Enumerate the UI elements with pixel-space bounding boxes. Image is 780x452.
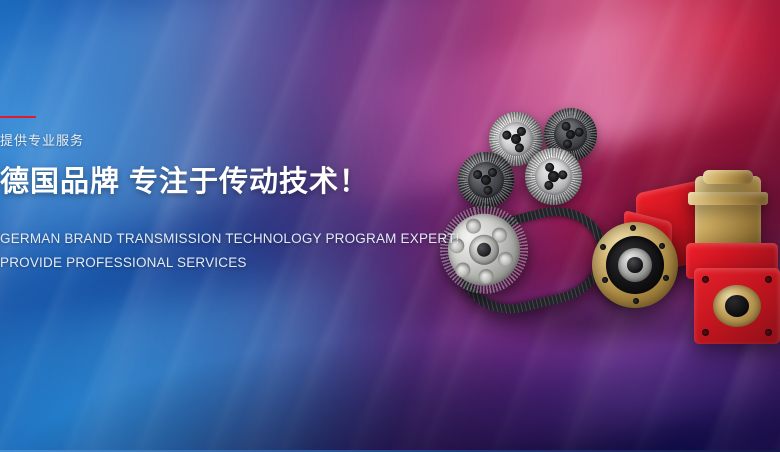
pulley-bore <box>510 133 522 145</box>
timing-pulley-silver-top <box>482 105 550 173</box>
hero-banner: 提供专业服务 德国品牌 专注于传动技术！ GERMAN BRAND TRANSM… <box>0 0 780 452</box>
gearbox-rear-housing <box>636 178 708 275</box>
pulley-bolt <box>574 127 585 138</box>
hero-headline: 德国品牌 专注于传动技术！ <box>0 167 400 199</box>
pulley-bore <box>480 174 491 185</box>
gearbox-front-face-bolt <box>765 329 772 336</box>
gearbox-rear-neck <box>624 210 672 288</box>
pulley-bore <box>565 129 576 140</box>
gearbox-motor-adaptor-barrel <box>695 176 761 252</box>
pulley-rim <box>482 105 550 173</box>
pulley-disc <box>539 103 602 166</box>
large-pulley-lightening-hole <box>454 261 472 279</box>
large-pulley-lightening-hole <box>496 250 514 268</box>
large-pulley-lightening-hole <box>490 226 508 244</box>
gearbox-front-face-bolt <box>765 276 772 283</box>
pulley-disc <box>454 148 517 211</box>
gearbox-rear-flange-bolt <box>630 225 636 231</box>
timing-pulley-silver-right <box>516 139 590 213</box>
pulley-rim <box>454 148 517 211</box>
large-pulley-teeth <box>431 196 538 303</box>
pulley-disc <box>516 139 590 213</box>
pulley-bolt <box>488 167 498 177</box>
gearbox-front-housing <box>686 243 778 279</box>
gearbox-rear-flange-bore <box>627 257 642 272</box>
large-pulley-face <box>440 206 527 293</box>
timing-belt-drive-assembly <box>439 176 644 342</box>
pulley-bolt <box>501 130 512 141</box>
hero-subtitle-en-2: PROVIDE PROFESSIONAL SERVICES <box>0 251 400 275</box>
gearbox-front-output-bore <box>725 295 749 316</box>
timing-belt <box>449 195 618 324</box>
pulley-hub-face <box>465 159 507 201</box>
gearbox-motor-adaptor-collar <box>688 192 768 205</box>
timing-pulley-dark-topright <box>539 103 602 166</box>
large-pulley-bore <box>475 241 492 258</box>
pulley-bolt <box>562 139 573 150</box>
gearbox-rear-flange-core <box>618 248 652 282</box>
light-ray-purple-bottom <box>310 244 780 452</box>
large-pulley-hub <box>466 232 502 268</box>
small-pulley-face <box>599 258 641 300</box>
pulley-bolt <box>482 185 492 195</box>
gearbox-rear-flange-bolt <box>600 244 606 250</box>
gearbox-rear-flange-bolt <box>602 277 608 283</box>
pulley-bolt <box>557 169 569 181</box>
small-driven-pulley <box>592 251 648 307</box>
gearbox-front-output-ring <box>713 285 761 328</box>
pulley-disc <box>482 105 550 173</box>
product-contact-shadow <box>470 292 710 352</box>
gearbox-front-face-bolt <box>702 276 709 283</box>
small-pulley-bore <box>613 272 626 285</box>
large-timing-pulley <box>431 196 538 303</box>
accent-bar <box>0 116 36 118</box>
gearbox-rear-output-flange <box>592 222 678 308</box>
gearbox-front-output-face <box>694 268 780 344</box>
pulley-teeth <box>454 148 517 211</box>
large-pulley-lightening-hole <box>464 218 482 236</box>
pulley-hub-face <box>529 152 578 201</box>
gearbox-rear-flange-bolt <box>659 243 665 249</box>
pulley-bolt <box>514 143 525 154</box>
pulley-rim <box>516 139 590 213</box>
pulley-hub-face <box>550 114 590 154</box>
gearbox-rear-flange-bolt <box>663 275 669 281</box>
pulley-bolt <box>543 180 555 192</box>
gearbox-motor-adaptor-top-cap <box>703 170 753 184</box>
hero-subtitle-en-1: GERMAN BRAND TRANSMISSION TECHNOLOGY PRO… <box>0 227 400 251</box>
gearbox-rear-flange-bolt <box>633 298 639 304</box>
timing-pulley-dark-left <box>454 148 517 211</box>
gearbox-front-face-bolt <box>702 329 709 336</box>
pulley-teeth <box>539 103 602 166</box>
pulley-hub-face <box>494 117 538 161</box>
pulley-rim <box>539 103 602 166</box>
pulley-teeth <box>482 105 550 173</box>
hero-copy: 提供专业服务 德国品牌 专注于传动技术！ GERMAN BRAND TRANSM… <box>0 116 400 274</box>
pulley-bolt <box>516 126 527 137</box>
hero-eyebrow: 提供专业服务 <box>0 134 400 147</box>
light-ray-blue-bottom-left <box>0 263 422 452</box>
pulley-bolt <box>561 121 572 132</box>
pulley-bolt <box>472 169 482 179</box>
pulley-bolt <box>544 161 556 173</box>
large-pulley-lightening-hole <box>477 268 495 286</box>
pulley-teeth <box>516 139 590 213</box>
pulley-bore <box>547 170 560 183</box>
gearbox-rear-flange-inner <box>606 236 664 294</box>
